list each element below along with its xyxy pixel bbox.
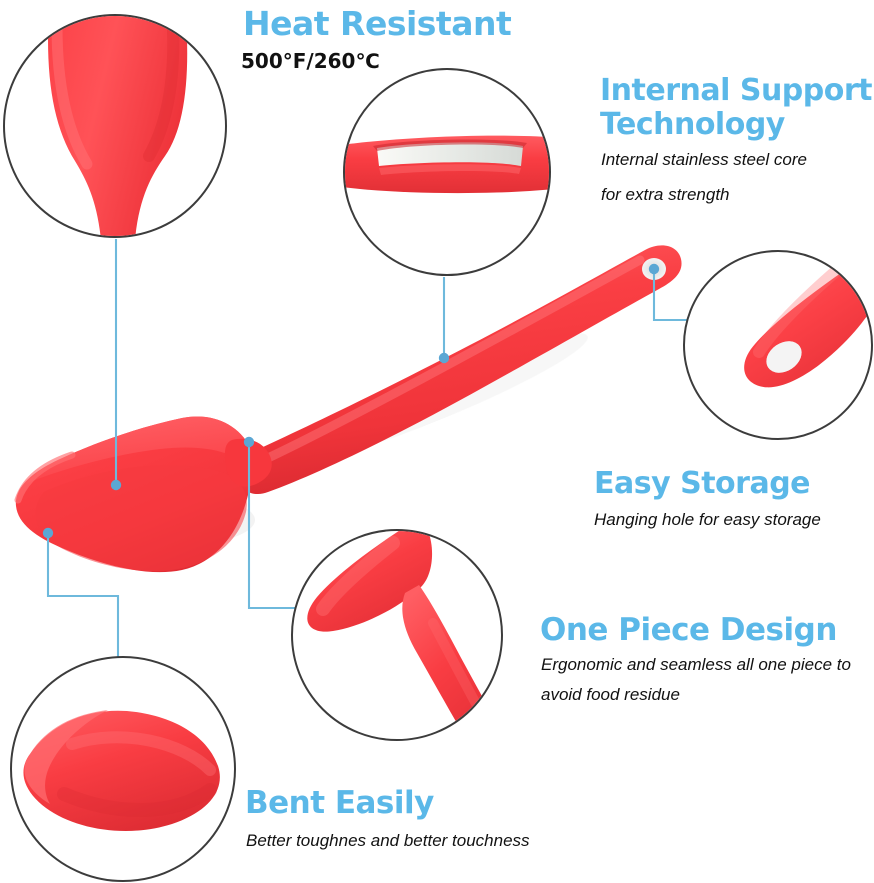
feature-title-heat-resistant: Heat Resistant	[243, 6, 511, 43]
feature-title-internal-support: Internal Support Technology	[600, 74, 872, 141]
spatula-head-closeup-art	[5, 16, 227, 238]
seamless-joint-closeup-art	[293, 531, 503, 741]
feature-subtitle-bent-easily: Better toughnes and better touchness	[246, 826, 530, 856]
feature-subtitle-temperature: 500°F/260℃	[241, 49, 380, 73]
feature-subtitle-one-piece-line2: avoid food residue	[541, 680, 680, 710]
product-feature-infographic: Heat Resistant 500°F/260℃ Internal Suppo…	[0, 0, 874, 883]
connector-bent-easily	[48, 533, 118, 660]
callout-seamless-joint-closeup	[291, 529, 503, 741]
dot-one-piece	[244, 437, 254, 447]
feature-subtitle-one-piece-line1: Ergonomic and seamless all one piece to	[541, 650, 851, 680]
dot-easy-storage	[649, 264, 659, 274]
callout-stainless-steel-core-closeup	[343, 68, 551, 276]
steel-core-closeup-art	[345, 70, 551, 276]
spatula-head	[16, 416, 272, 572]
feature-title-one-piece-design: One Piece Design	[540, 613, 837, 648]
feature-subtitle-easy-storage: Hanging hole for easy storage	[594, 505, 821, 535]
callout-bent-head-closeup	[10, 656, 236, 882]
callout-spatula-head-closeup	[3, 14, 227, 238]
feature-subtitle-internal-support-line2: for extra strength	[601, 180, 730, 210]
feature-subtitle-internal-support-line1: Internal stainless steel core	[601, 145, 807, 175]
feature-title-internal-support-line2: Technology	[600, 108, 872, 142]
dot-heat-resistant	[111, 480, 121, 490]
dot-bent-easily	[43, 528, 53, 538]
feature-title-internal-support-line1: Internal Support	[600, 74, 872, 108]
spatula-handle	[238, 245, 682, 494]
callout-hanging-hole-closeup	[683, 250, 873, 440]
callout-dots	[43, 264, 659, 538]
connector-one-piece	[249, 442, 310, 608]
feature-title-easy-storage: Easy Storage	[594, 467, 810, 501]
hanging-hole-closeup-art	[685, 252, 873, 440]
dot-internal-support	[439, 353, 449, 363]
product-shadow	[25, 316, 596, 550]
hanging-hole	[642, 258, 666, 280]
feature-title-bent-easily: Bent Easily	[245, 786, 434, 821]
bent-head-closeup-art	[12, 658, 236, 882]
